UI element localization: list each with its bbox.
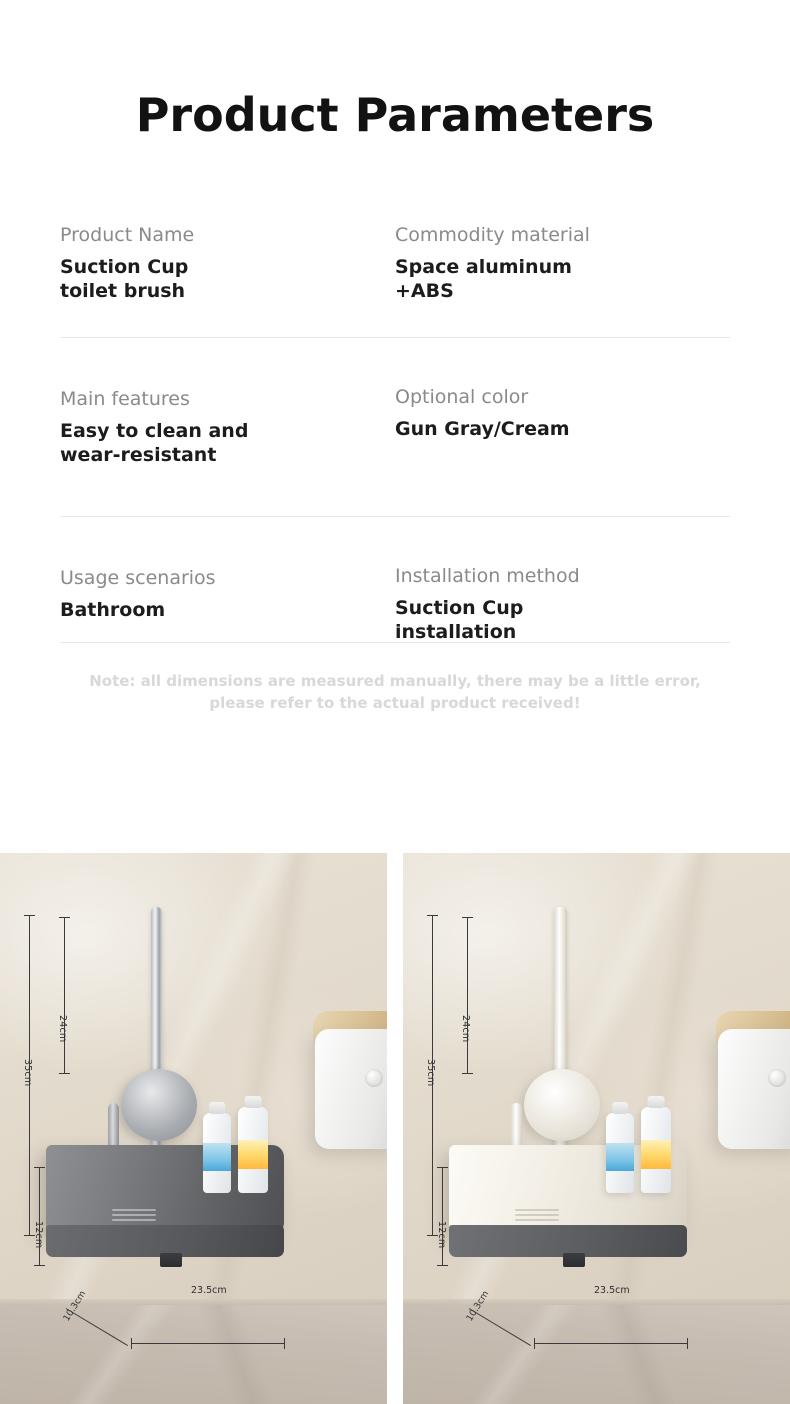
caddy-drawer-handle <box>563 1253 585 1267</box>
detergent-bottle-right <box>238 1107 268 1193</box>
toilet-flush-button <box>768 1069 786 1087</box>
spec-label: Product Name <box>60 224 383 247</box>
bottle-cap <box>648 1096 665 1108</box>
spec-value: Space aluminum +ABS <box>395 256 718 304</box>
dimension-label-brush-height: 24cm <box>57 1015 68 1042</box>
toilet-tank <box>315 1029 387 1149</box>
page-title: Product Parameters <box>0 0 790 138</box>
spec-cell-optional-color: Optional color Gun Gray/Cream <box>395 335 730 514</box>
dimension-label-width: 23.5cm <box>191 1285 227 1296</box>
dimension-tick <box>534 1338 535 1349</box>
dimension-label-total-height: 35cm <box>425 1059 436 1086</box>
bottle-label <box>606 1143 634 1170</box>
dimension-label-body-height: 12cm <box>436 1221 447 1248</box>
table-row: Main features Easy to clean and wear-res… <box>60 337 730 516</box>
spec-value: Suction Cup toilet brush <box>60 256 383 304</box>
spec-value: Suction Cup installation <box>395 597 718 645</box>
dimension-tick <box>131 1338 132 1349</box>
dimension-tick <box>34 1265 45 1266</box>
floor-background <box>0 1305 387 1404</box>
table-row: Usage scenarios Bathroom Installation me… <box>60 516 730 642</box>
suction-cup-disc <box>524 1069 600 1141</box>
bottle-label <box>238 1140 268 1169</box>
spec-cell-main-features: Main features Easy to clean and wear-res… <box>60 337 395 516</box>
caddy-vent <box>515 1209 559 1221</box>
dimension-line-body-height <box>39 1167 40 1265</box>
caddy-vent <box>112 1209 156 1221</box>
spec-cell-usage-scenarios: Usage scenarios Bathroom <box>60 516 395 642</box>
dimension-tick <box>427 915 438 916</box>
divider <box>60 642 730 643</box>
spec-cell-product-name: Product Name Suction Cup toilet brush <box>60 224 395 337</box>
dimension-tick <box>437 1167 448 1168</box>
spec-label: Optional color <box>395 386 718 409</box>
detergent-bottle-left <box>203 1113 231 1193</box>
spec-value: Bathroom <box>60 599 383 623</box>
dimension-tick <box>59 917 70 918</box>
caddy-drawer-handle <box>160 1253 182 1267</box>
dimension-line-body-height <box>442 1167 443 1265</box>
suction-cup-disc <box>121 1069 197 1141</box>
detergent-bottle-right <box>641 1107 671 1193</box>
spec-value: Gun Gray/Cream <box>395 418 718 442</box>
gun-gray-product-photo: 35cm 24cm 12cm 23.5cm 10.3cm <box>0 853 387 1404</box>
measurement-note: Note: all dimensions are measured manual… <box>60 643 730 715</box>
dimension-line-brush-height <box>467 917 468 1073</box>
dimension-label-width: 23.5cm <box>594 1285 630 1296</box>
spec-label: Commodity material <box>395 224 718 247</box>
cream-product-photo: 35cm 24cm 12cm 23.5cm 10.3cm <box>403 853 790 1404</box>
dimension-label-total-height: 35cm <box>22 1059 33 1086</box>
spec-label: Installation method <box>395 565 718 588</box>
table-row: Product Name Suction Cup toilet brush Co… <box>60 224 730 337</box>
dimension-line-width <box>131 1343 284 1344</box>
table-row-end <box>60 642 730 643</box>
spec-cell-commodity-material: Commodity material Space aluminum +ABS <box>395 224 730 337</box>
dimension-tick <box>687 1338 688 1349</box>
spec-value: Easy to clean and wear-resistant <box>60 420 383 468</box>
spec-label: Usage scenarios <box>60 567 383 590</box>
dimension-tick <box>462 1073 473 1074</box>
dimension-tick <box>284 1338 285 1349</box>
spec-cell-installation-method: Installation method Suction Cup installa… <box>395 514 730 640</box>
bottle-label <box>203 1143 231 1170</box>
dimension-tick <box>437 1265 448 1266</box>
toilet-tank <box>718 1029 790 1149</box>
dimension-line-brush-height <box>64 917 65 1073</box>
spec-table: Product Name Suction Cup toilet brush Co… <box>60 138 730 715</box>
bottle-cap <box>209 1102 225 1114</box>
spec-label: Main features <box>60 388 383 411</box>
dimension-label-brush-height: 24cm <box>460 1015 471 1042</box>
dimension-tick <box>59 1073 70 1074</box>
bottle-cap <box>245 1096 262 1108</box>
dimension-tick <box>24 915 35 916</box>
product-photo-strip: 35cm 24cm 12cm 23.5cm 10.3cm <box>0 853 790 1404</box>
dimension-line-width <box>534 1343 687 1344</box>
dimension-label-body-height: 12cm <box>33 1221 44 1248</box>
bottle-cap <box>612 1102 628 1114</box>
dimension-tick <box>34 1167 45 1168</box>
floor-background <box>403 1305 790 1404</box>
toilet-flush-button <box>365 1069 383 1087</box>
detergent-bottle-left <box>606 1113 634 1193</box>
dimension-tick <box>462 917 473 918</box>
bottle-label <box>641 1140 671 1169</box>
